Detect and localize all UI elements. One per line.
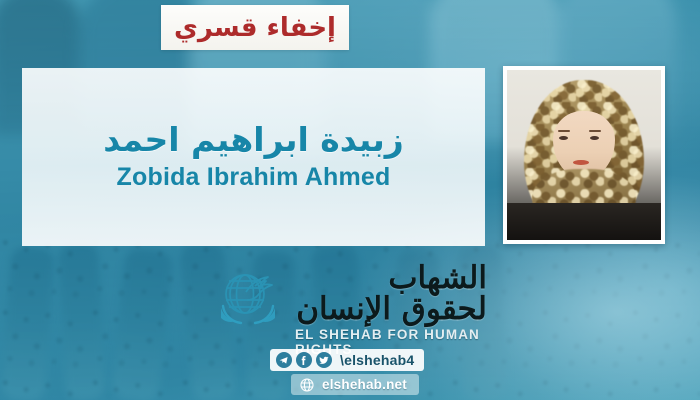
subject-name-arabic: زبيدة ابراهيم احمد — [103, 122, 403, 158]
subject-name-english: Zobida Ibrahim Ahmed — [117, 164, 391, 192]
facebook-icon[interactable] — [296, 352, 312, 368]
social-handle-pill[interactable]: \elshehab4 — [270, 349, 424, 371]
photo-eyebrow — [558, 130, 570, 133]
social-handle-text: \elshehab4 — [340, 352, 414, 368]
subject-name-card: زبيدة ابراهيم احمد Zobida Ibrahim Ahmed — [22, 68, 485, 246]
organization-name-arabic: الشهاب لحقوق الإنسان — [295, 263, 487, 325]
photo-shoulders — [507, 203, 661, 240]
globe-icon[interactable] — [299, 377, 315, 393]
website-text: elshehab.net — [322, 377, 407, 392]
poster-canvas: إخفاء قسري زبيدة ابراهيم احمد Zobida Ibr… — [0, 0, 700, 400]
organization-logo: الشهاب لحقوق الإنسان EL SHEHAB FOR HUMAN… — [215, 262, 487, 342]
globe-dove-hands-icon — [215, 262, 289, 336]
category-badge-label: إخفاء قسري — [174, 15, 336, 41]
subject-photo-frame — [503, 66, 665, 244]
twitter-icon[interactable] — [316, 352, 332, 368]
subject-photo — [507, 70, 661, 240]
photo-eyebrow — [589, 130, 601, 133]
organization-logo-text: الشهاب لحقوق الإنسان EL SHEHAB FOR HUMAN… — [295, 262, 487, 357]
category-badge: إخفاء قسري — [161, 5, 349, 50]
website-pill[interactable]: elshehab.net — [291, 374, 419, 395]
telegram-icon[interactable] — [276, 352, 292, 368]
